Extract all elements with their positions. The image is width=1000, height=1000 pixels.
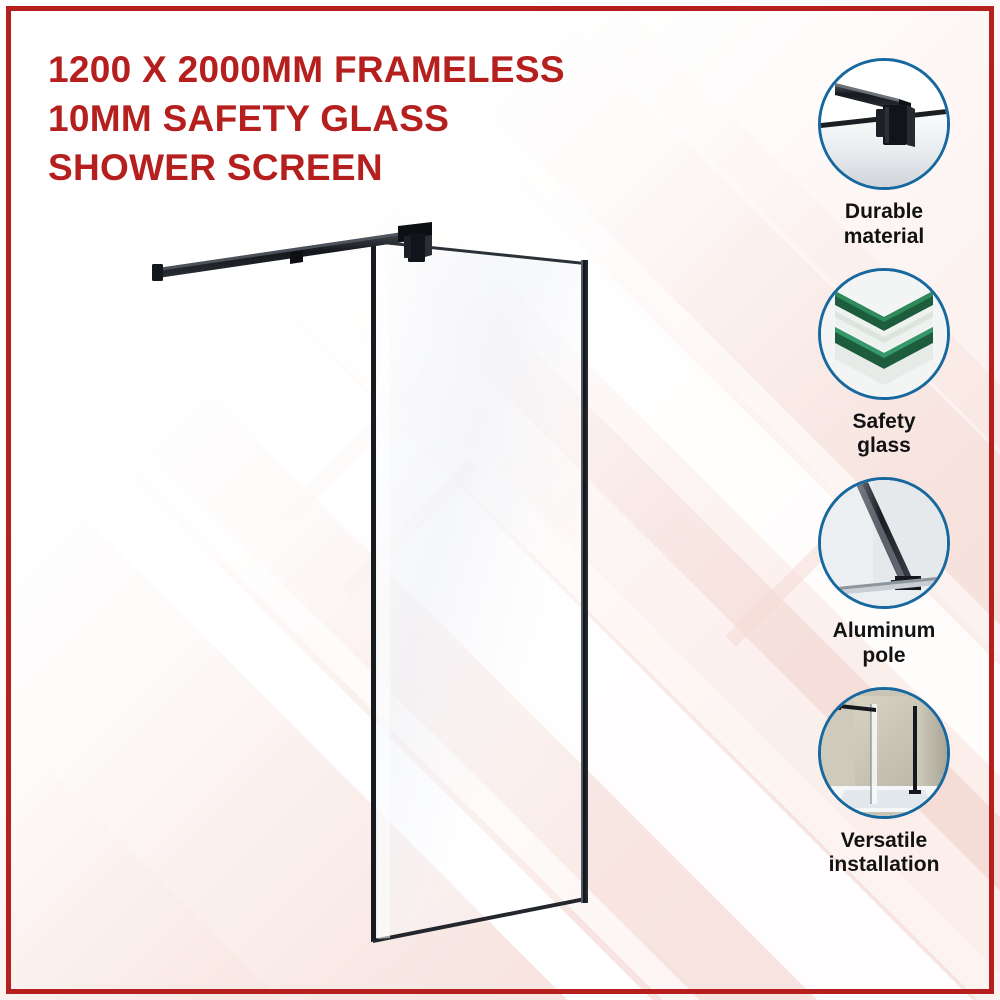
feature-label: Aluminum pole	[786, 619, 982, 669]
vertical-post	[581, 260, 588, 903]
bracket-clamp-icon	[818, 58, 950, 190]
feature-label: Versatile installation	[786, 829, 982, 879]
feature-item-versatile-installation: Versatile installation	[786, 687, 982, 879]
product-banner: 1200 x 2000mm Frameless 10mm Safety Glas…	[0, 0, 1000, 1000]
feature-item-aluminum-pole: Aluminum pole	[786, 477, 982, 669]
feature-list: Durable material	[786, 58, 982, 896]
feature-item-safety-glass: Safety glass	[786, 268, 982, 460]
page-title: 1200 x 2000mm Frameless 10mm Safety Glas…	[48, 46, 668, 192]
feature-label: Durable material	[786, 200, 982, 250]
glass-panel	[371, 240, 585, 943]
feature-label: Safety glass	[786, 410, 982, 460]
product-image	[140, 200, 640, 960]
shower-room-icon	[818, 687, 950, 819]
laminated-glass-layers-icon	[818, 268, 950, 400]
support-pole-icon	[818, 477, 950, 609]
feature-item-durable-material: Durable material	[786, 58, 982, 250]
